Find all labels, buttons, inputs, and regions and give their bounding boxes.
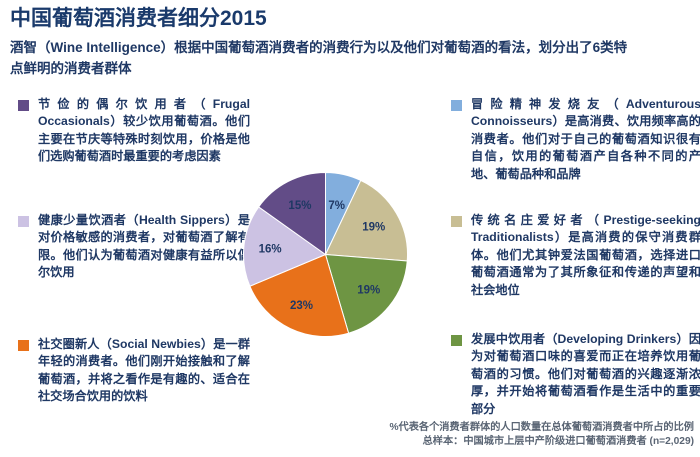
- footnote-line-2: 总样本：中国城市上层中产阶级进口葡萄酒消费者 (n=2,029): [390, 435, 695, 449]
- pie-slice-label: 19%: [362, 222, 385, 234]
- segment-color-swatch-frugal: [18, 100, 29, 111]
- segment-frugal-occasionals: 节俭的偶尔饮用者（Frugal Occasionals）较少饮用葡萄酒。他们主要…: [18, 96, 250, 166]
- segment-text-prestige: 传统名庄爱好者（Prestige-seeking Traditionalists…: [451, 212, 700, 299]
- segment-prestige-seeking-traditionalists: 传统名庄爱好者（Prestige-seeking Traditionalists…: [451, 212, 700, 299]
- page-subtitle: 酒智（Wine Intelligence）根据中国葡萄酒消费者的消费行为以及他们…: [10, 37, 630, 79]
- segment-health-sippers: 健康少量饮酒者（Health Sippers）是对价格敏感的消费者，对葡萄酒了解…: [18, 212, 250, 282]
- header: 中国葡萄酒消费者细分2015 酒智（Wine Intelligence）根据中国…: [10, 6, 690, 79]
- segment-text-adventurous: 冒险精神发烧友（Adventurous Connoisseurs）是高消费、饮用…: [451, 96, 700, 183]
- segment-color-swatch-developing: [451, 335, 462, 346]
- segment-text-frugal: 节俭的偶尔饮用者（Frugal Occasionals）较少饮用葡萄酒。他们主要…: [18, 96, 250, 166]
- segment-heading-developing: 发展中饮用者（Developing Drinkers）: [471, 332, 689, 346]
- segment-color-swatch-adventurous: [451, 100, 462, 111]
- segment-text-developing: 发展中饮用者（Developing Drinkers）因为对葡萄酒口味的喜爱而正…: [451, 331, 700, 418]
- pie-slice-label: 19%: [357, 285, 380, 297]
- segment-color-swatch-prestige: [451, 216, 462, 227]
- segment-color-swatch-health: [18, 216, 29, 227]
- footnote-line-1: %代表各个消费者群体的人口数量在总体葡萄酒消费者中所占的比例: [390, 421, 695, 435]
- page-title: 中国葡萄酒消费者细分2015: [10, 6, 690, 32]
- pie-slice-label: 23%: [290, 300, 313, 312]
- pie-slice-label: 16%: [259, 243, 282, 255]
- consumer-segmentation-pie-chart: 7%19%19%23%16%15%: [243, 172, 408, 337]
- segment-social-newbies: 社交圈新人（Social Newbies）是一群年轻的消费者。他们刚开始接触和了…: [18, 336, 250, 406]
- footnote: %代表各个消费者群体的人口数量在总体葡萄酒消费者中所占的比例 总样本：中国城市上…: [390, 421, 695, 449]
- pie-slice-label: 15%: [288, 200, 311, 212]
- segment-color-swatch-social: [18, 340, 29, 351]
- segment-text-social: 社交圈新人（Social Newbies）是一群年轻的消费者。他们刚开始接触和了…: [18, 336, 250, 406]
- pie-svg: 7%19%19%23%16%15%: [243, 172, 408, 337]
- segment-developing-drinkers: 发展中饮用者（Developing Drinkers）因为对葡萄酒口味的喜爱而正…: [451, 331, 700, 418]
- segment-adventurous-connoisseurs: 冒险精神发烧友（Adventurous Connoisseurs）是高消费、饮用…: [451, 96, 700, 183]
- segment-heading-social: 社交圈新人（Social Newbies）: [38, 337, 213, 351]
- pie-slice-label: 7%: [328, 200, 345, 212]
- segment-heading-health: 健康少量饮酒者（Health Sippers）: [38, 213, 238, 227]
- segment-text-health: 健康少量饮酒者（Health Sippers）是对价格敏感的消费者，对葡萄酒了解…: [18, 212, 250, 282]
